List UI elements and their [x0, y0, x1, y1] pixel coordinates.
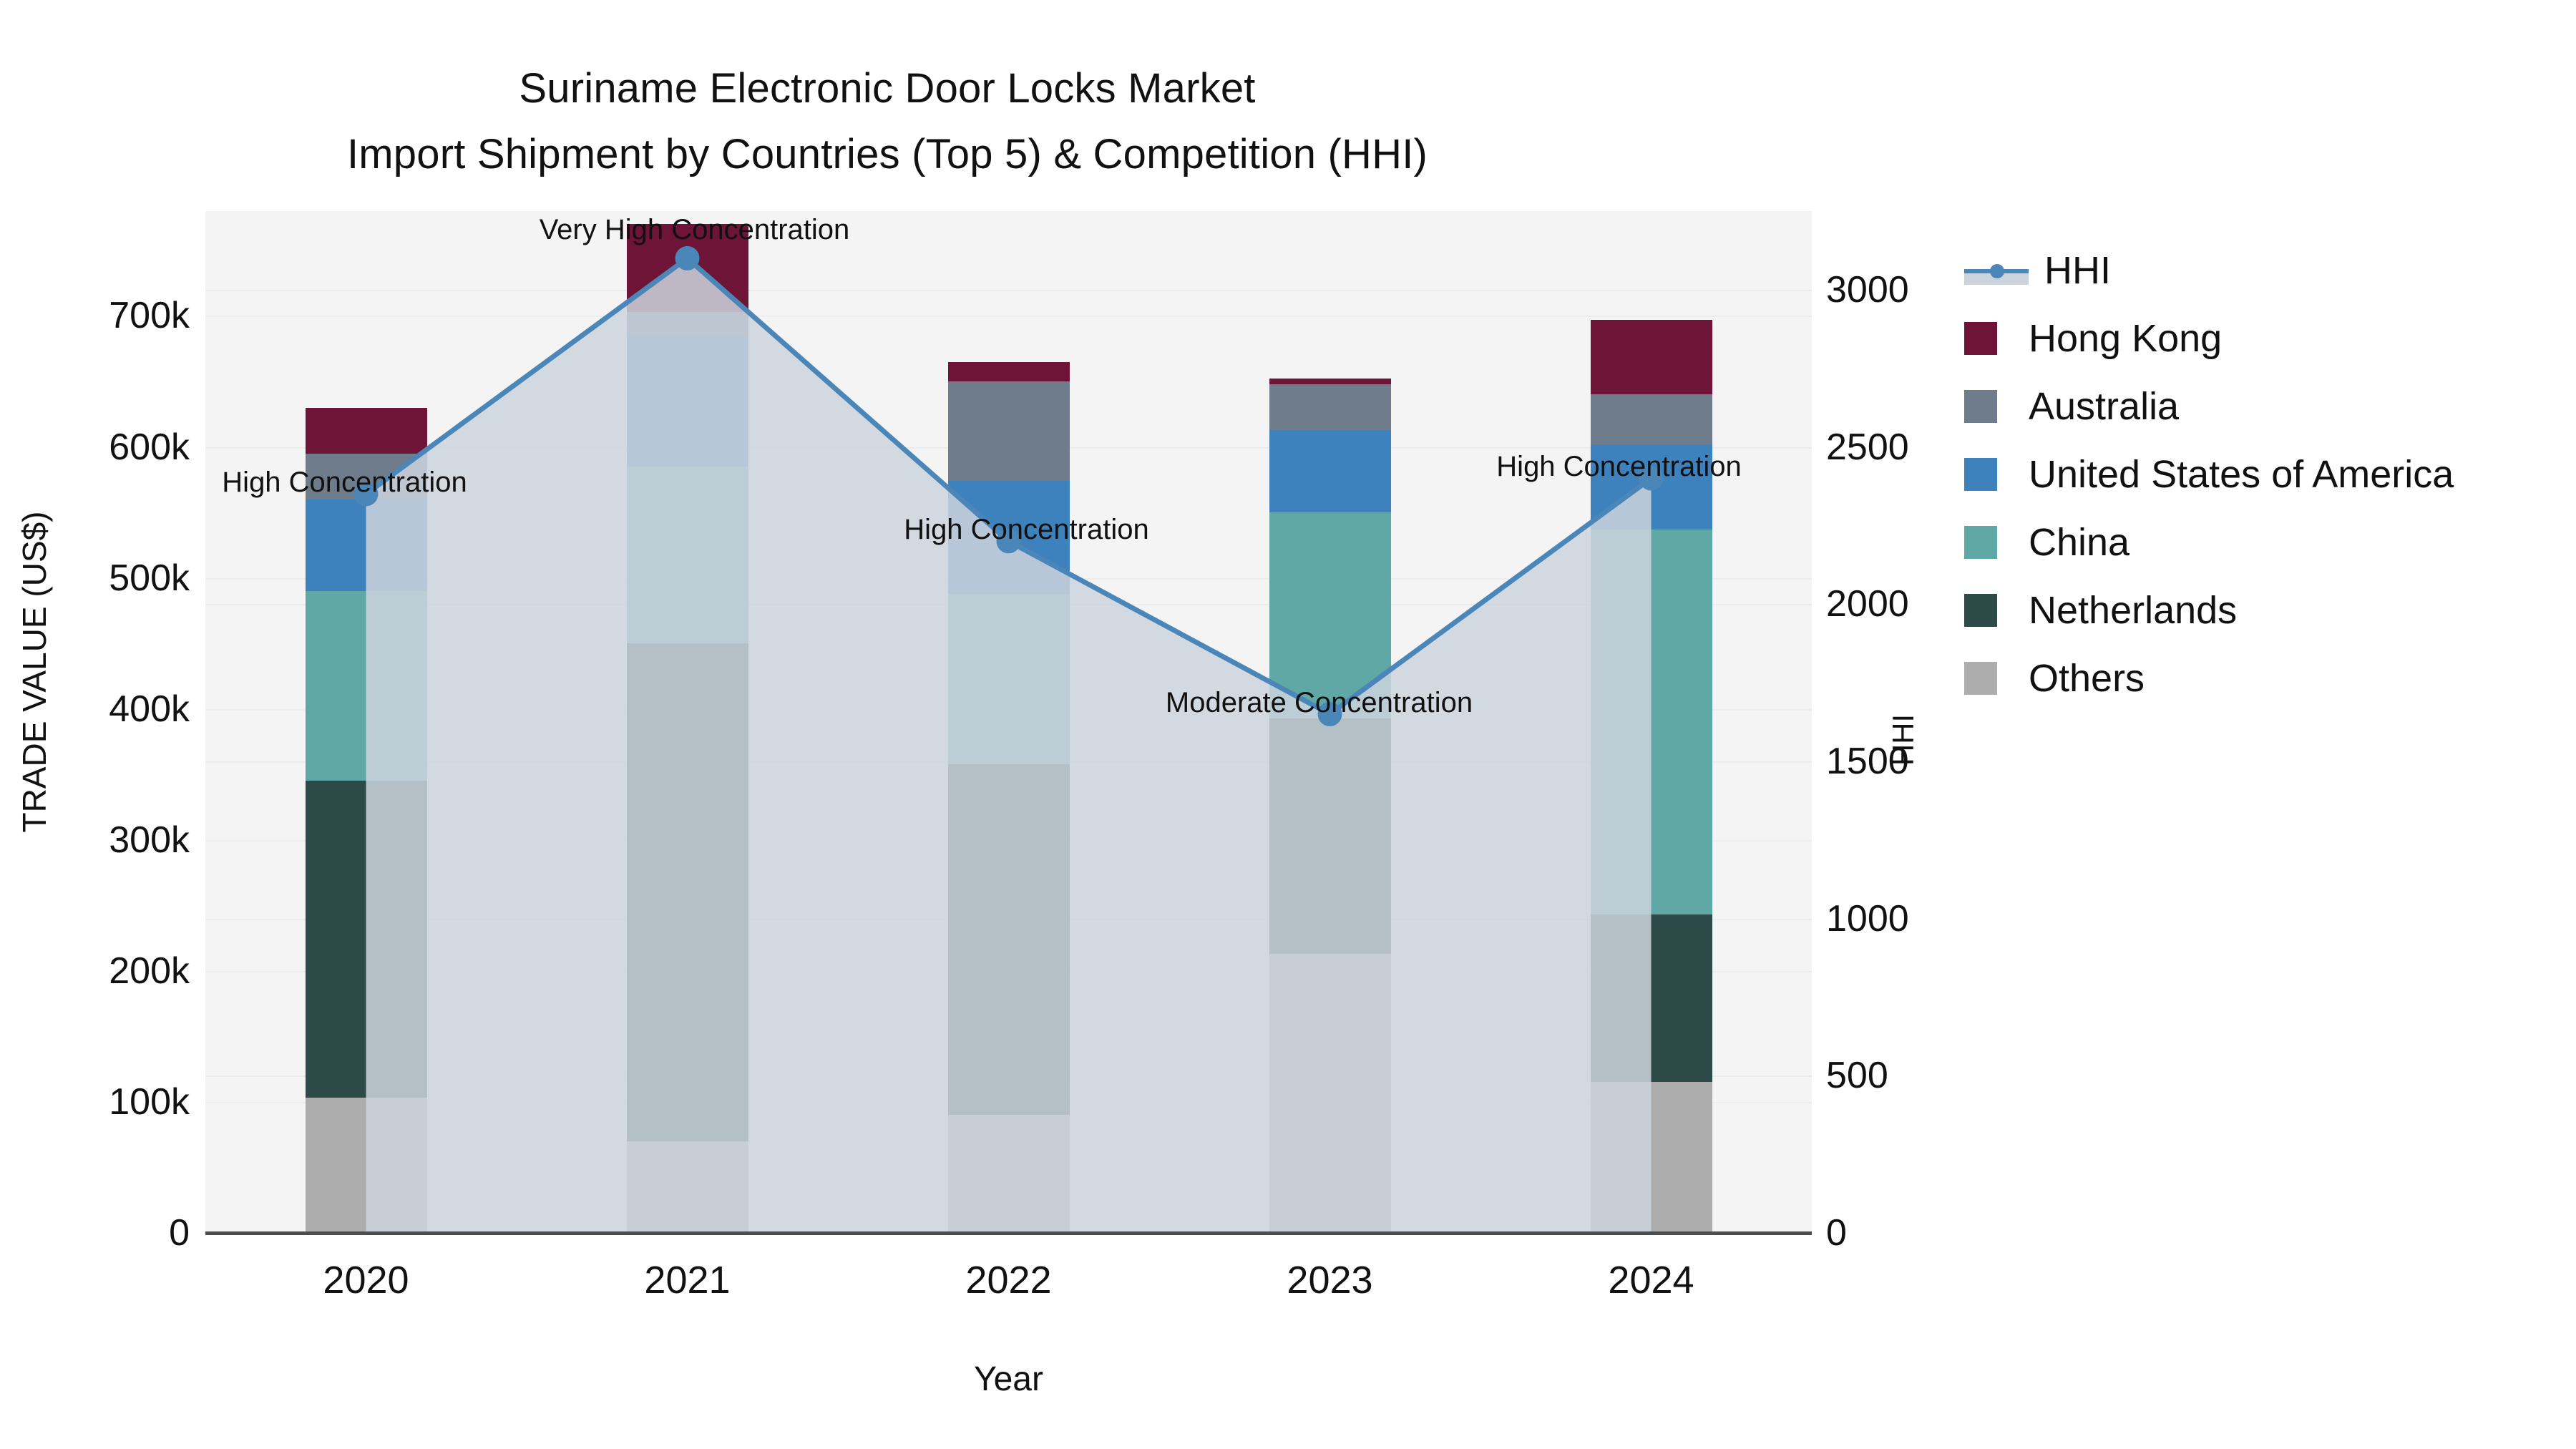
- hhi-area-fill: [366, 258, 1652, 1233]
- y-tick-right-3000: 3000: [1826, 268, 1909, 311]
- chart-title: Suriname Electronic Door Locks Market Im…: [0, 56, 1775, 187]
- legend-item-australia[interactable]: Australia: [1964, 372, 2558, 440]
- chart-legend: HHIHong KongAustraliaUnited States of Am…: [1964, 236, 2558, 712]
- legend-item-hong-kong[interactable]: Hong Kong: [1964, 304, 2558, 372]
- legend-swatch-hong-kong-icon: [1964, 322, 1997, 355]
- plot-area: [205, 211, 1812, 1233]
- hhi-line-chart: [205, 211, 1812, 1233]
- annotation-2023: Moderate Concentration: [1166, 687, 1473, 719]
- legend-item-others[interactable]: Others: [1964, 644, 2558, 712]
- legend-item-hhi[interactable]: HHI: [1964, 236, 2558, 304]
- y-tick-left-700k: 700k: [0, 294, 190, 337]
- annotation-2020: High Concentration: [222, 467, 467, 499]
- legend-label: Australia: [2029, 384, 2179, 429]
- legend-label: Netherlands: [2029, 588, 2237, 633]
- legend-line-icon: [1964, 254, 2029, 287]
- y-tick-right-2500: 2500: [1826, 426, 1909, 469]
- legend-label: United States of America: [2029, 452, 2454, 497]
- x-axis-title: Year: [205, 1360, 1812, 1399]
- annotation-2024: High Concentration: [1496, 451, 1741, 483]
- y-axis-left-title: TRADE VALUE (US$): [15, 450, 54, 894]
- legend-swatch-netherlands-icon: [1964, 594, 1997, 627]
- title-line-1: Suriname Electronic Door Locks Market: [0, 56, 1775, 122]
- plot-inner: [205, 211, 1812, 1233]
- legend-item-netherlands[interactable]: Netherlands: [1964, 576, 2558, 644]
- legend-item-united-states-of-america[interactable]: United States of America: [1964, 440, 2558, 508]
- x-axis-baseline: [205, 1231, 1812, 1235]
- legend-label: HHI: [2044, 248, 2111, 293]
- y-tick-right-1000: 1000: [1826, 897, 1909, 940]
- y-tick-left-0: 0: [0, 1211, 190, 1254]
- legend-swatch-china-icon: [1964, 526, 1997, 559]
- x-tick-2022: 2022: [902, 1258, 1116, 1302]
- y-tick-left-100k: 100k: [0, 1080, 190, 1123]
- x-tick-2020: 2020: [259, 1258, 474, 1302]
- legend-label: Hong Kong: [2029, 316, 2222, 361]
- x-tick-2024: 2024: [1544, 1258, 1759, 1302]
- legend-item-china[interactable]: China: [1964, 508, 2558, 576]
- legend-swatch-united-states-of-america-icon: [1964, 458, 1997, 491]
- title-line-2: Import Shipment by Countries (Top 5) & C…: [0, 122, 1775, 187]
- y-axis-right-title: HHI: [1886, 597, 1921, 883]
- legend-label: China: [2029, 520, 2129, 565]
- y-tick-right-0: 0: [1826, 1211, 1847, 1254]
- annotation-2022: High Concentration: [904, 514, 1148, 546]
- hhi-marker-2021[interactable]: [675, 246, 700, 270]
- legend-label: Others: [2029, 656, 2145, 701]
- y-tick-right-500: 500: [1826, 1054, 1888, 1097]
- y-tick-left-200k: 200k: [0, 950, 190, 992]
- x-tick-2021: 2021: [580, 1258, 795, 1302]
- x-tick-2023: 2023: [1223, 1258, 1438, 1302]
- legend-swatch-others-icon: [1964, 662, 1997, 695]
- annotation-2021: Very High Concentration: [540, 214, 850, 246]
- legend-swatch-australia-icon: [1964, 390, 1997, 423]
